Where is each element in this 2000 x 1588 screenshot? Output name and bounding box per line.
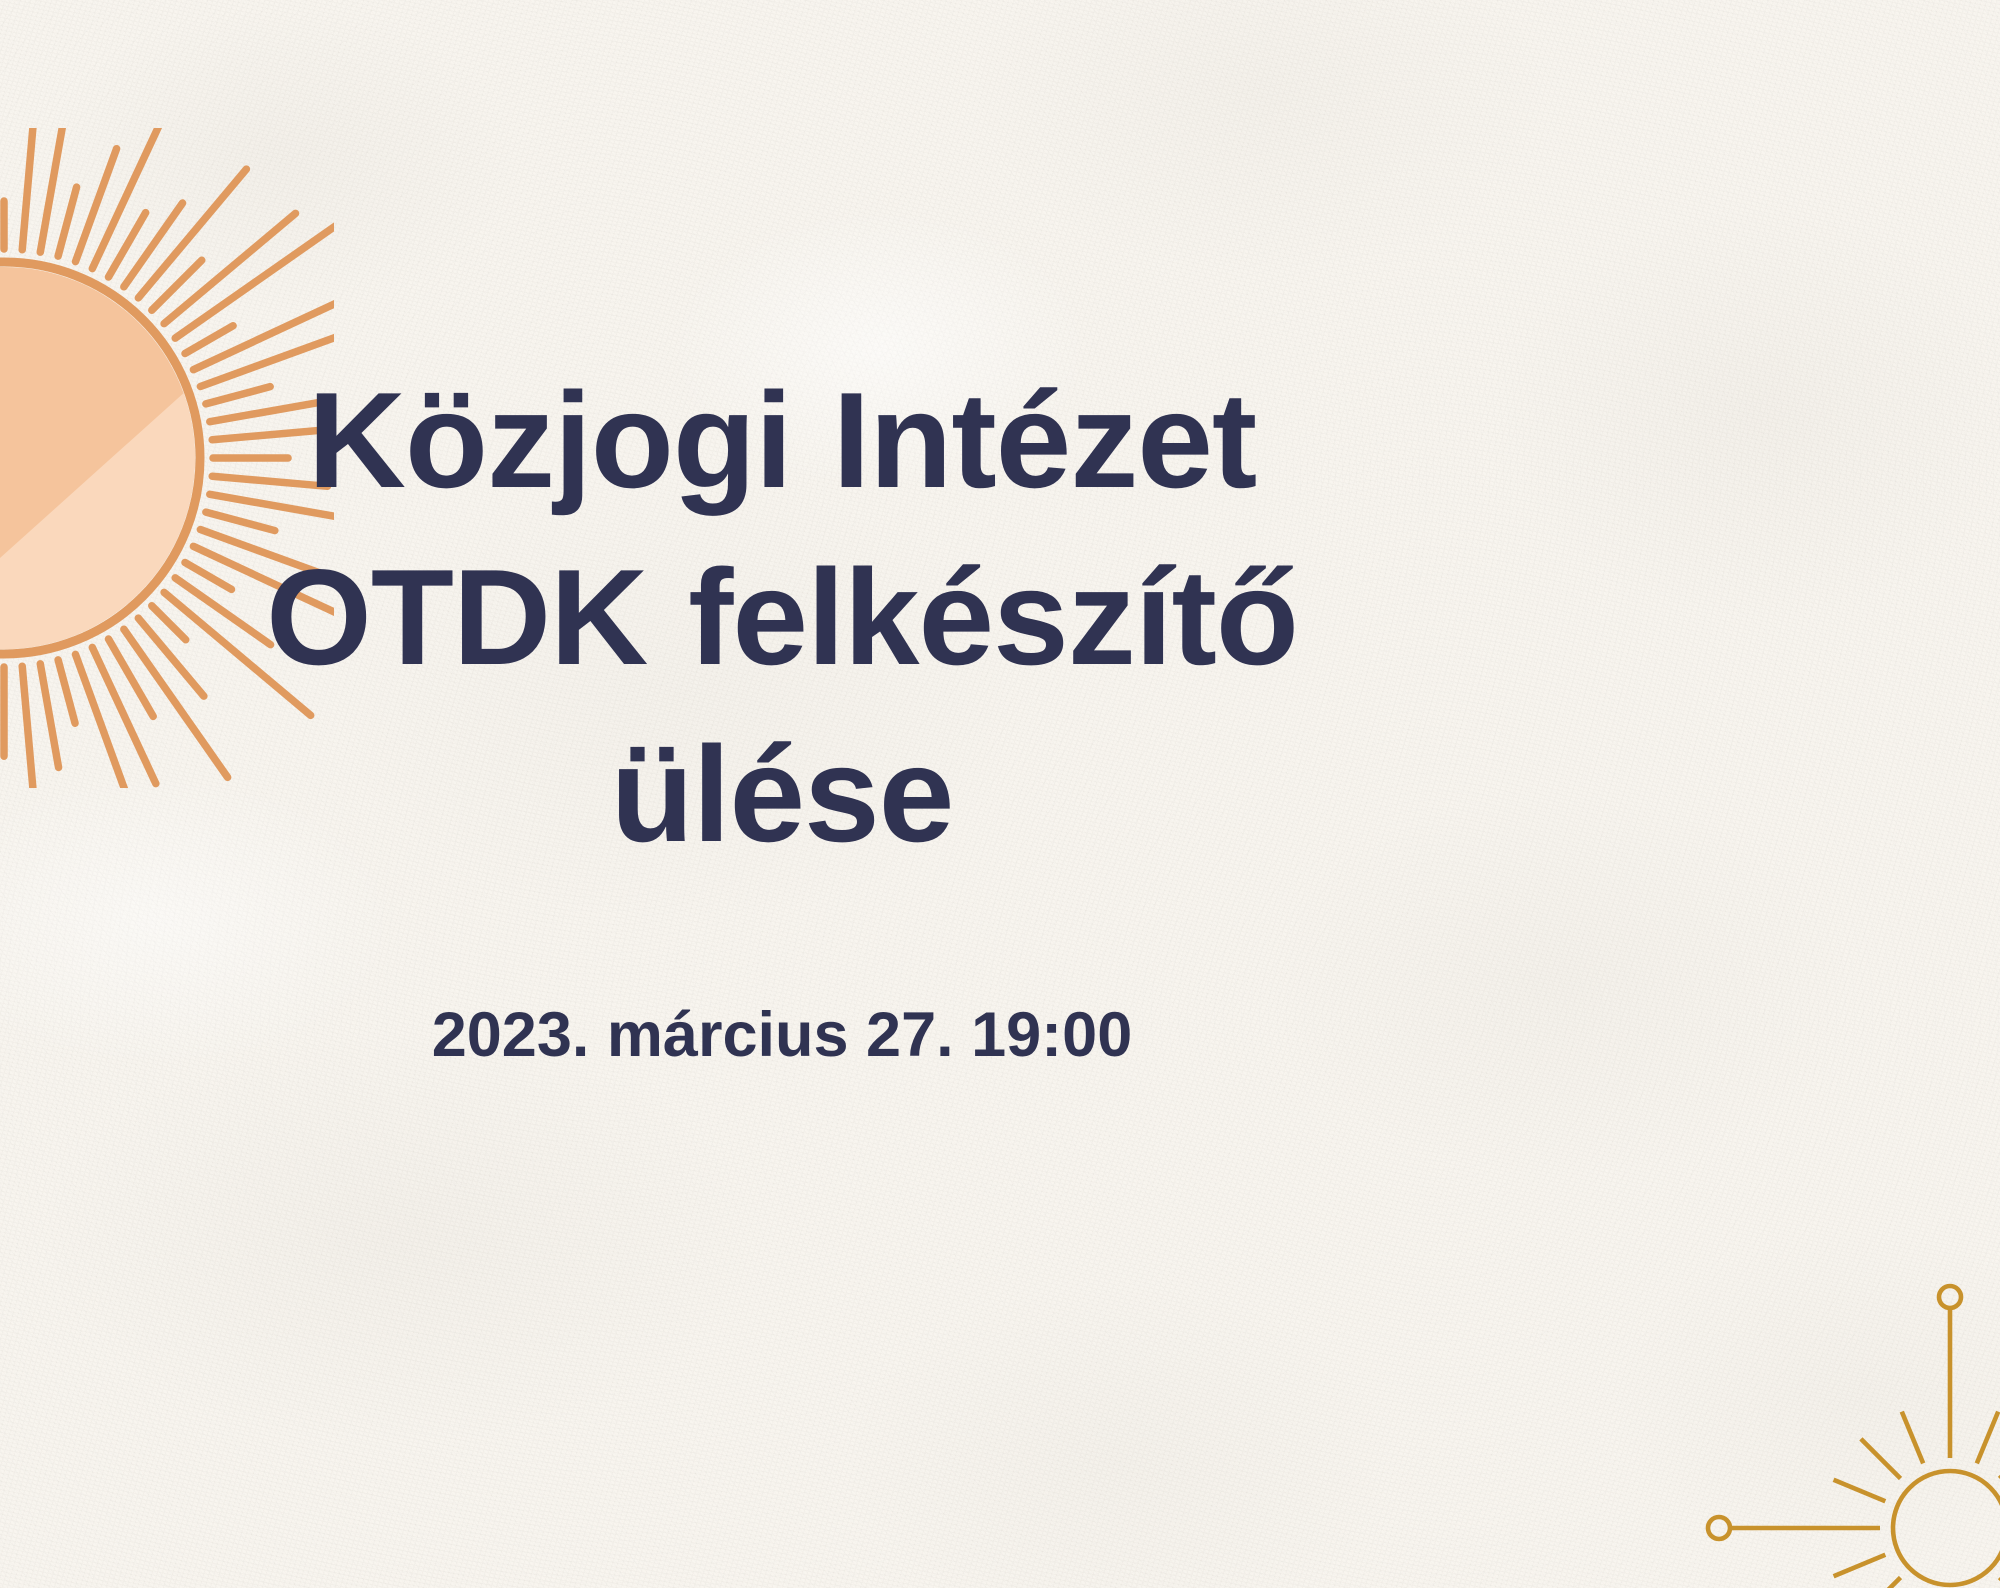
event-datetime: 2023. március 27. 19:00 [228,998,1336,1074]
page-title: Közjogi Intézet OTDK felkészítő ülése [228,352,1336,882]
poster-canvas: Közjogi Intézet OTDK felkészítő ülése 20… [0,0,2000,1588]
poster-text-block: Közjogi Intézet OTDK felkészítő ülése 20… [228,352,1336,1074]
sunburst-bottom-right-icon [1676,1262,2000,1588]
